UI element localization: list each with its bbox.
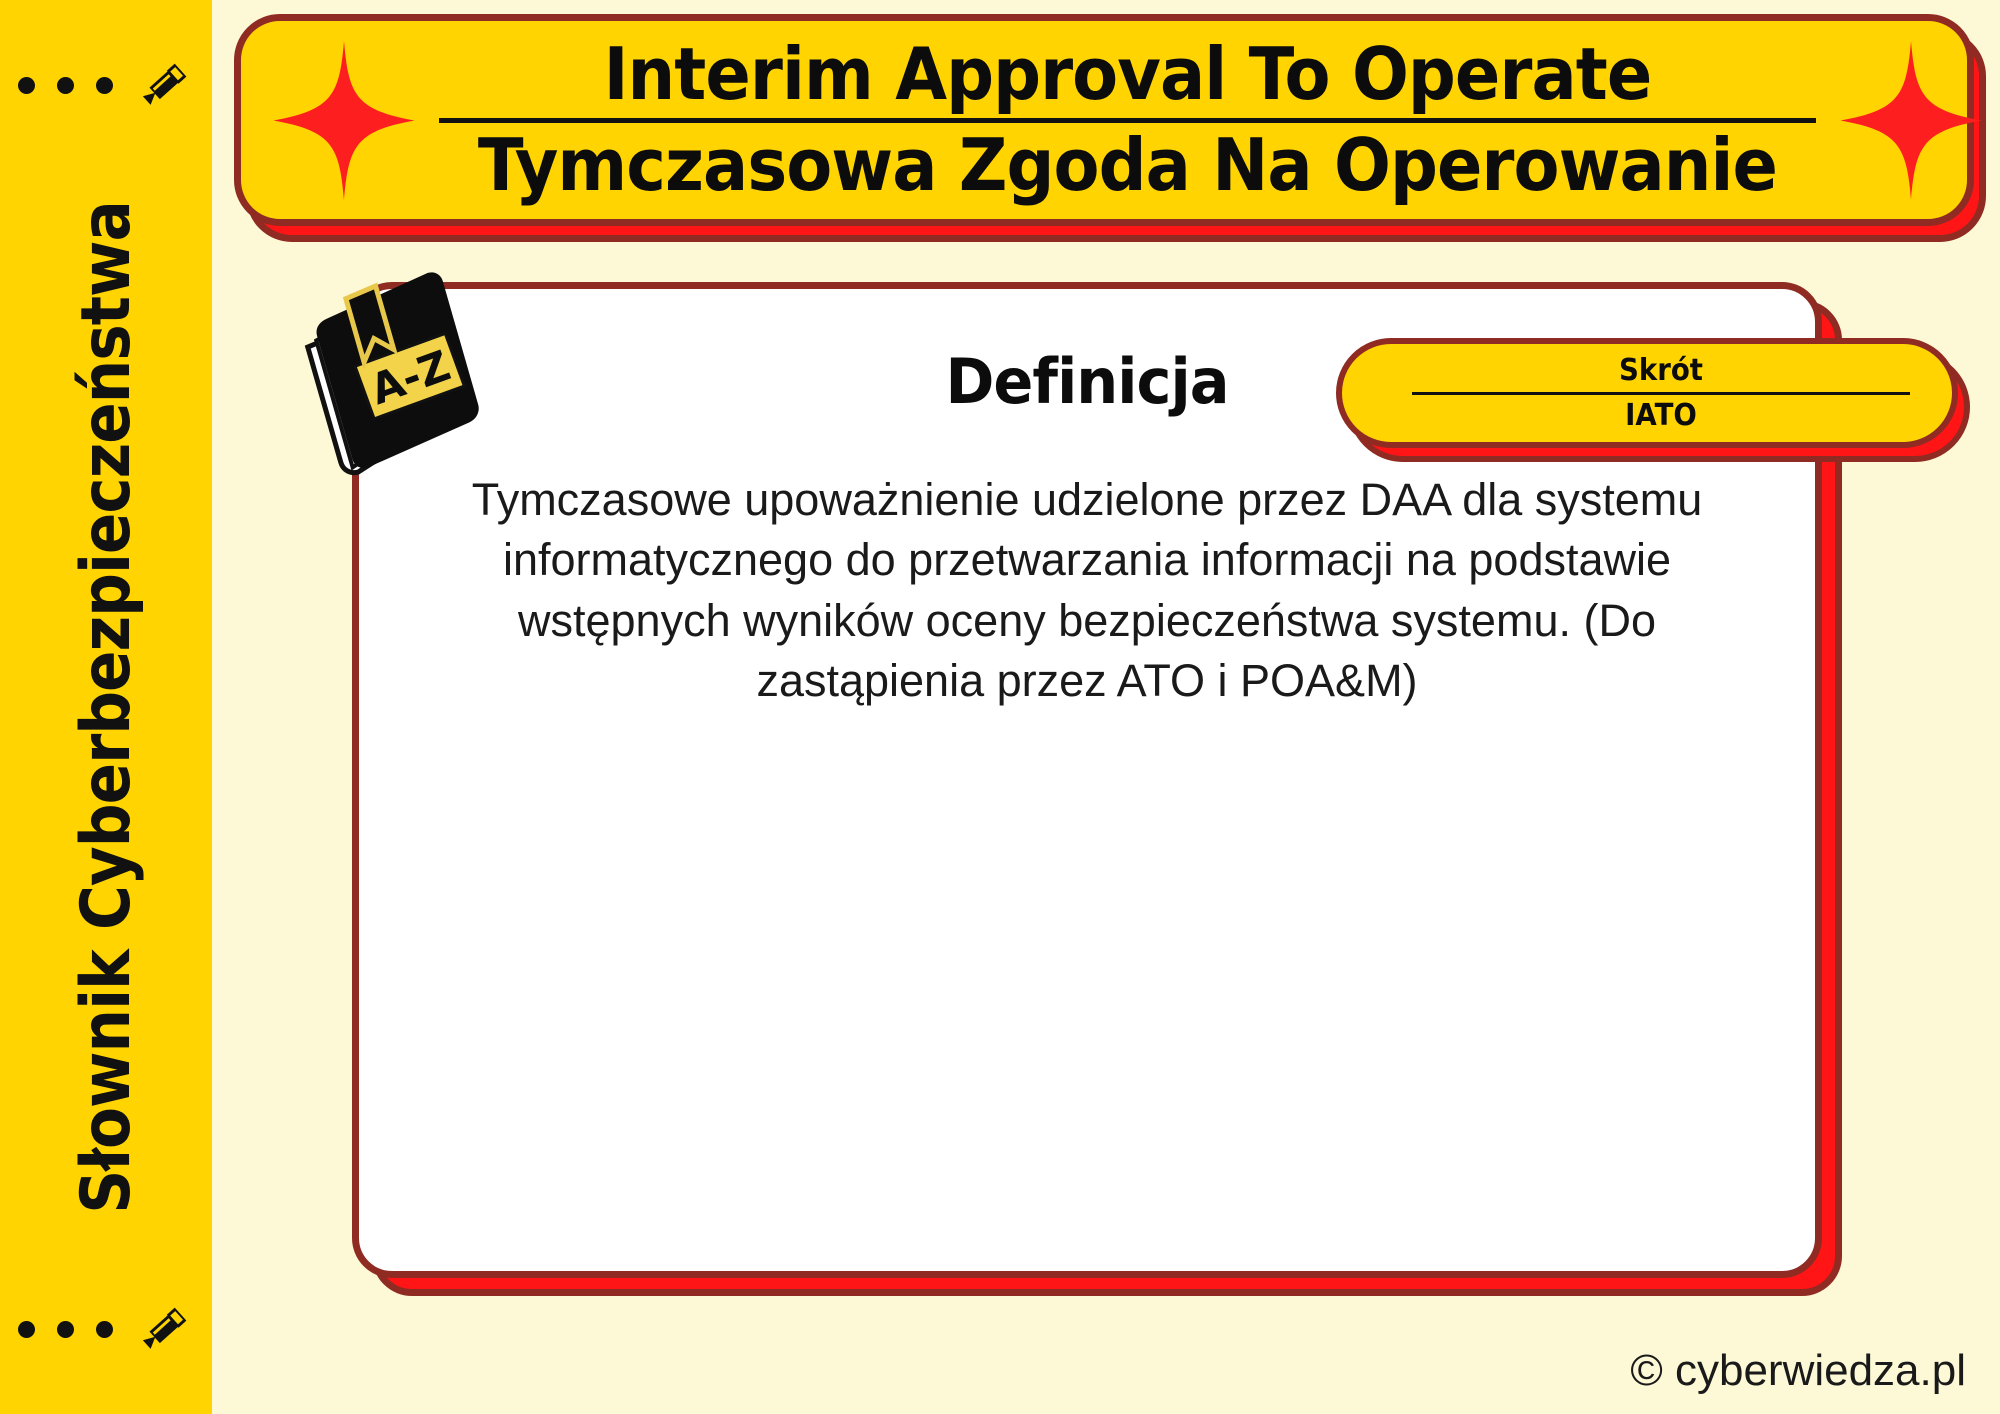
sidebar-bottom-decoration — [0, 1254, 212, 1404]
dot-icon — [57, 1321, 74, 1338]
dot-icon — [18, 77, 35, 94]
book-az-icon: A-Z — [288, 268, 488, 478]
pencil-icon — [133, 54, 195, 116]
dot-icon — [18, 1321, 35, 1338]
abbreviation-value: IATO — [1432, 400, 1890, 432]
sparkle-star-icon — [1836, 38, 1986, 203]
sparkle-star-icon — [269, 38, 419, 203]
pencil-icon — [133, 1298, 195, 1360]
header-title-en: Interim Approval To Operate — [478, 38, 1777, 111]
sidebar-title: Słownik Cyberbezpieczeństwa — [67, 201, 146, 1214]
abbreviation-divider — [1412, 392, 1910, 395]
header-title-pl: Tymczasowa Zgoda Na Operowanie — [478, 129, 1777, 202]
footer-copyright: © cyberwiedza.pl — [1630, 1346, 1966, 1396]
sidebar-top-decoration — [0, 10, 212, 160]
sidebar: Słownik Cyberbezpieczeństwa — [0, 0, 212, 1414]
abbreviation-label: Skrót — [1432, 355, 1890, 387]
dot-icon — [96, 77, 113, 94]
definition-body-text: Tymczasowe upoważnienie udzielone przez … — [419, 470, 1755, 711]
header-banner: Interim Approval To Operate Tymczasowa Z… — [234, 14, 1974, 226]
glossary-card-page: Słownik Cyberbezpieczeństwa — [0, 0, 2000, 1414]
sidebar-top-dots — [18, 77, 113, 94]
sidebar-bottom-dots — [18, 1321, 113, 1338]
sidebar-title-container: Słownik Cyberbezpieczeństwa — [0, 150, 212, 1264]
dot-icon — [96, 1321, 113, 1338]
header-title-group: Interim Approval To Operate Tymczasowa Z… — [419, 38, 1836, 203]
abbreviation-badge: Skrót IATO — [1336, 338, 1958, 448]
dot-icon — [57, 77, 74, 94]
